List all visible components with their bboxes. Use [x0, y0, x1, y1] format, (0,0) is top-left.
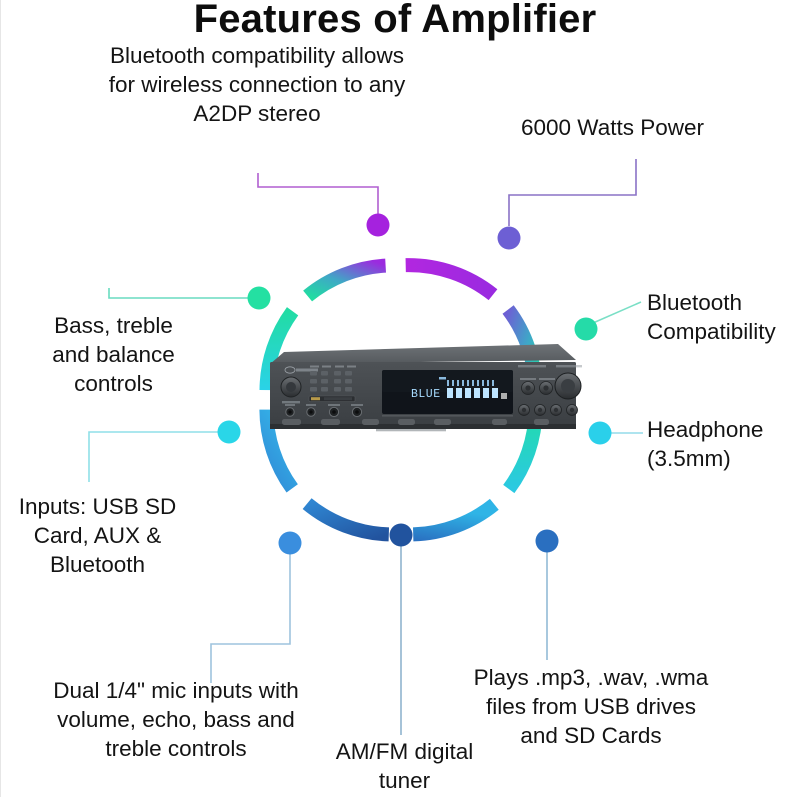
- amp-display-text: BLUE: [411, 388, 441, 401]
- feature-label-bass-treble-balance: Bass, treble and balance controls: [11, 311, 216, 398]
- amplifier-illustration: BLUE: [258, 334, 588, 444]
- feature-label-headphone: Headphone (3.5mm): [647, 415, 788, 473]
- connector-inputs: [89, 432, 229, 482]
- dot-amfm[interactable]: [390, 524, 413, 547]
- connector-mic: [211, 554, 290, 683]
- dot-watts[interactable]: [498, 227, 521, 250]
- feature-label-inputs: Inputs: USB SD Card, AUX & Bluetooth: [0, 492, 200, 579]
- feature-label-plays-formats: Plays .mp3, .wav, .wma files from USB dr…: [431, 663, 751, 750]
- connector-watts: [509, 159, 636, 226]
- ring-segment-bottom-right: [413, 504, 494, 534]
- feature-label-watts-power: 6000 Watts Power: [521, 113, 771, 142]
- amp-bottom-lip: [270, 424, 576, 429]
- amplifier-product-image: BLUE: [258, 334, 588, 444]
- dot-plays[interactable]: [536, 530, 559, 553]
- amp-usb-port[interactable]: [311, 397, 320, 400]
- dot-mic[interactable]: [279, 532, 302, 555]
- feature-label-bluetooth-compatibility: Bluetooth Compatibility: [647, 288, 788, 346]
- amp-selector-label: [282, 401, 300, 403]
- amp-display-ir-window: [501, 393, 507, 399]
- amp-top-chassis: [270, 344, 576, 364]
- amp-display-underline: [382, 415, 513, 417]
- dot-inputs[interactable]: [218, 421, 241, 444]
- connector-bass: [109, 288, 259, 298]
- amp-model-silk-text: [376, 429, 446, 431]
- ring-segment-bottom: [307, 504, 389, 535]
- connector-bt-compat: [593, 302, 641, 323]
- feature-label-dual-mic-inputs: Dual 1/4" mic inputs with volume, echo, …: [9, 676, 343, 763]
- dot-headphone[interactable]: [589, 422, 612, 445]
- feature-label-bluetooth-allows: Bluetooth compatibility allows for wirel…: [57, 41, 457, 128]
- amp-sd-port[interactable]: [324, 397, 352, 400]
- dot-bluetooth-allows[interactable]: [367, 214, 390, 237]
- infographic-canvas: Features of Amplifier: [0, 0, 788, 797]
- connector-bluetooth-allows: [258, 173, 378, 214]
- dot-bass[interactable]: [248, 287, 271, 310]
- amp-volume-knob-inner: [561, 379, 575, 393]
- amp-selector-knob-inner: [286, 382, 296, 392]
- ring-segment-top: [406, 265, 493, 295]
- ring-segment-top-left: [308, 266, 386, 296]
- connector-lines: [89, 159, 643, 735]
